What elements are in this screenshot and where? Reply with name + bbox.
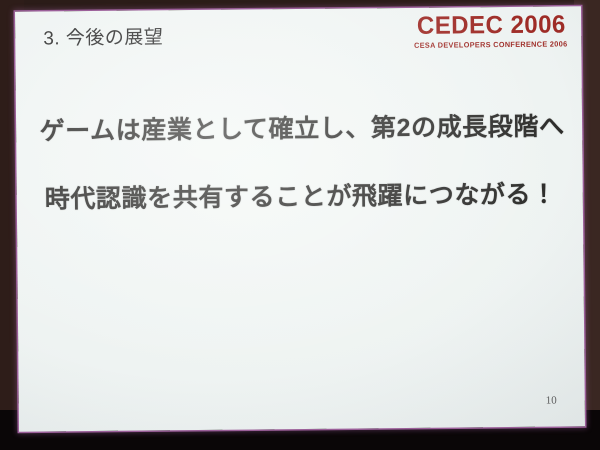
slide-header: 3. 今後の展望 CEDEC 2006 CESA DEVELOPERS CONF…	[15, 6, 581, 63]
cedec-logo-subtitle: CESA DEVELOPERS CONFERENCE 2006	[414, 40, 567, 49]
body-line-2: 時代認識を共有することが飛躍につながる！	[19, 174, 583, 215]
body-line-1: ゲームは産業として確立し、第2の成長段階へ	[22, 106, 582, 147]
projected-slide-photo: 3. 今後の展望 CEDEC 2006 CESA DEVELOPERS CONF…	[0, 0, 600, 450]
page-number: 10	[546, 395, 557, 407]
page-title: 3. 今後の展望	[43, 22, 163, 50]
slide-frame: 3. 今後の展望 CEDEC 2006 CESA DEVELOPERS CONF…	[15, 6, 585, 431]
cedec-logo: CEDEC 2006 CESA DEVELOPERS CONFERENCE 20…	[409, 12, 567, 49]
slide-canvas: 3. 今後の展望 CEDEC 2006 CESA DEVELOPERS CONF…	[15, 6, 585, 431]
cedec-logo-wordmark: CEDEC 2006	[415, 12, 567, 38]
slide-body: ゲームは産業として確立し、第2の成長段階へ 時代認識を共有することが飛躍につなが…	[16, 106, 583, 215]
